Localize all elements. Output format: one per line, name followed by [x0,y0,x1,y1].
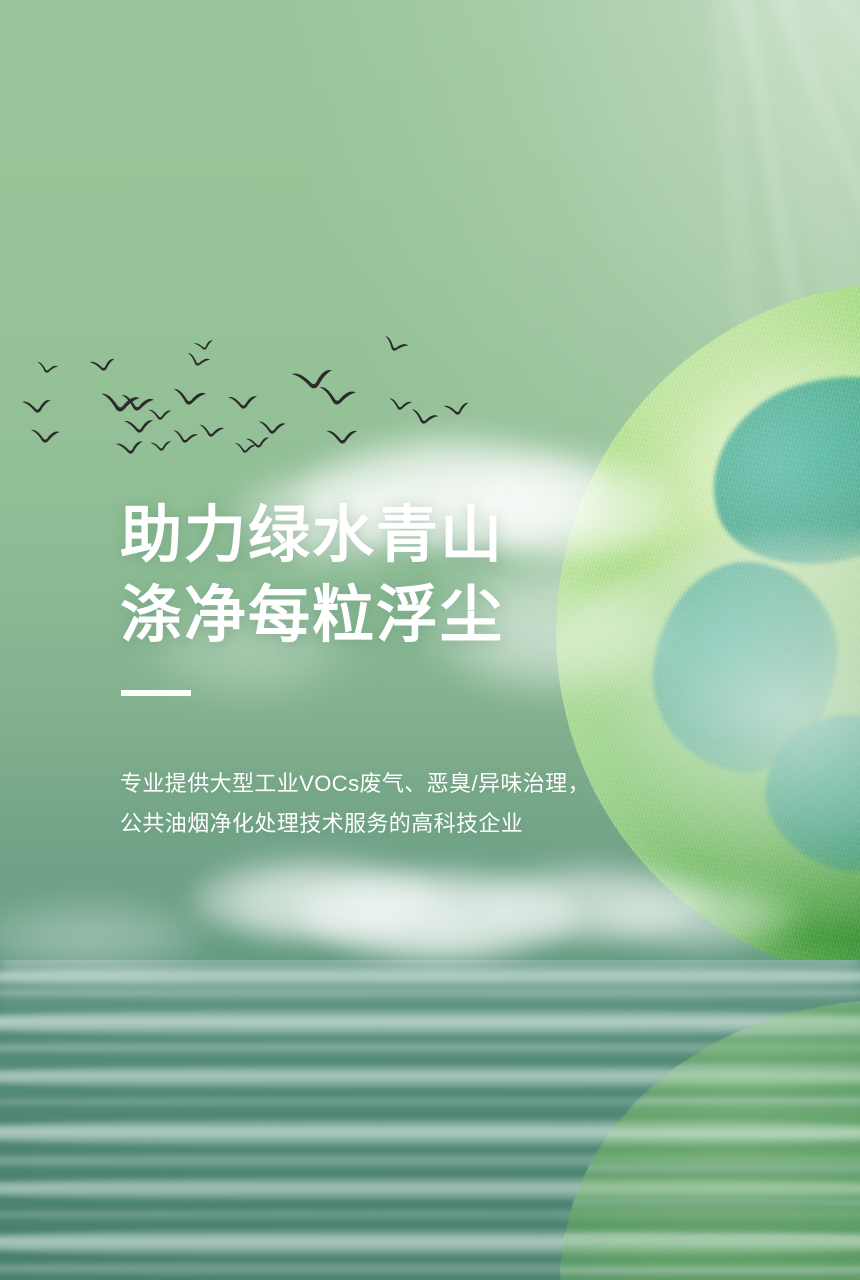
promo-poster: 助力绿水青山 涤净每粒浮尘 专业提供大型工业VOCs废气、恶臭/异味治理， 公共… [0,0,860,1280]
headline-line-1: 助力绿水青山 [120,496,504,576]
headline-line-2: 涤净每粒浮尘 [120,576,504,656]
subtitle-line-2: 公共油烟净化处理技术服务的高科技企业 [120,804,590,844]
globe-water-reflection [560,1000,860,1280]
reflection-wave-streaks [560,1000,860,1280]
subtitle-line-1: 专业提供大型工业VOCs废气、恶臭/异味治理， [120,764,590,804]
wave-streak [0,966,860,988]
wave-streak [0,986,860,1000]
subtitle: 专业提供大型工业VOCs废气、恶臭/异味治理， 公共油烟净化处理技术服务的高科技… [120,764,590,844]
page-title: 助力绿水青山 涤净每粒浮尘 [120,496,504,656]
headline-divider [121,690,191,696]
